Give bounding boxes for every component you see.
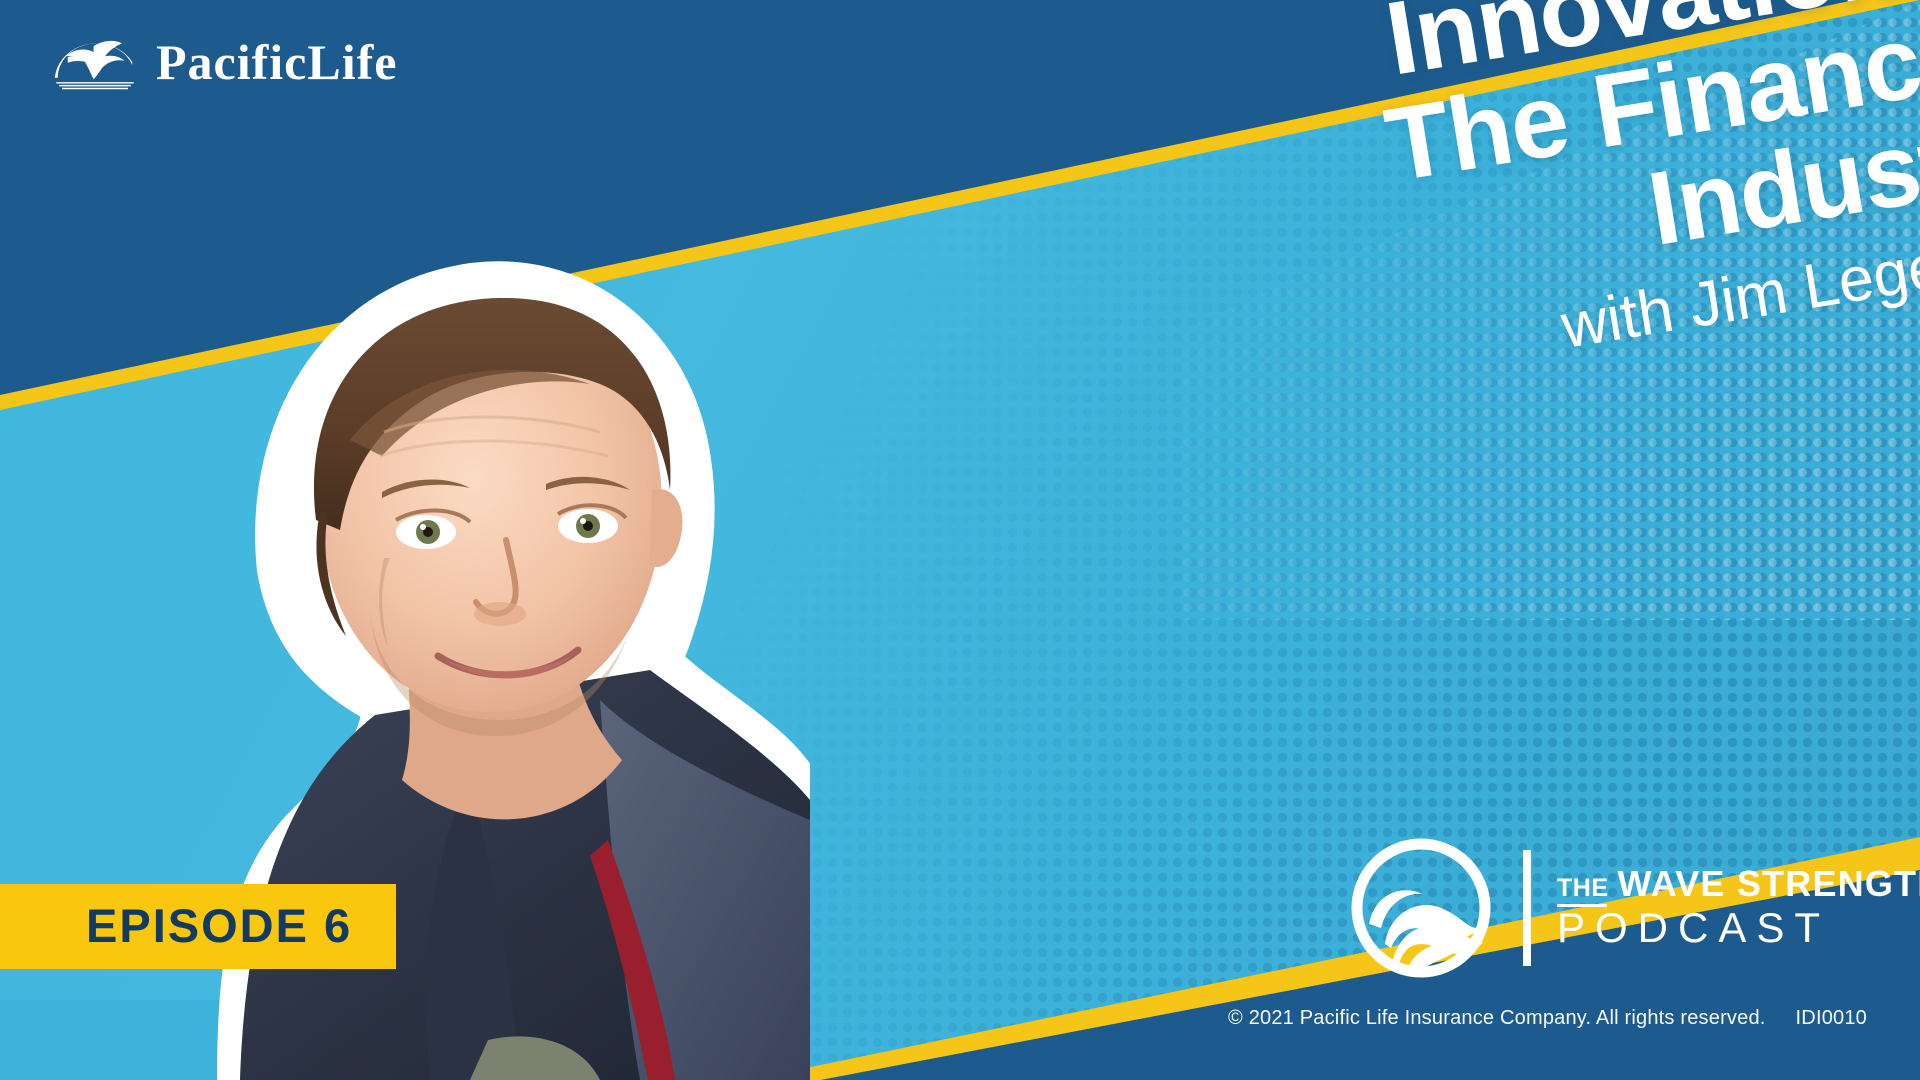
- pacific-life-logo: PacificLife: [52, 33, 397, 91]
- wordmark-life: Life: [307, 34, 397, 90]
- copyright-line: © 2021 Pacific Life Insurance Company. A…: [1228, 1007, 1867, 1030]
- wave-circle-icon: [1345, 832, 1497, 984]
- lockup-divider: [1523, 850, 1531, 966]
- lockup-title-row: THE WAVE STRENGTH ®: [1557, 865, 1920, 903]
- wordmark-pacific: Pacific: [156, 34, 307, 90]
- episode-number-badge: EPISODE 6: [0, 884, 396, 969]
- lockup-text: THE WAVE STRENGTH ® PODCAST: [1557, 865, 1920, 950]
- document-code: IDI0010: [1796, 1007, 1867, 1029]
- pacific-life-whale-icon: [52, 33, 138, 91]
- wave-strength-podcast-lockup: THE WAVE STRENGTH ® PODCAST: [1345, 832, 1920, 984]
- lockup-podcast-word: PODCAST: [1557, 905, 1920, 950]
- lockup-the-word: THE: [1557, 875, 1609, 901]
- lockup-name: WAVE STRENGTH: [1618, 865, 1920, 903]
- podcast-cover-canvas: PacificLife: [0, 0, 1920, 1080]
- copyright-text: © 2021 Pacific Life Insurance Company. A…: [1228, 1007, 1766, 1029]
- pacific-life-wordmark: PacificLife: [156, 37, 397, 87]
